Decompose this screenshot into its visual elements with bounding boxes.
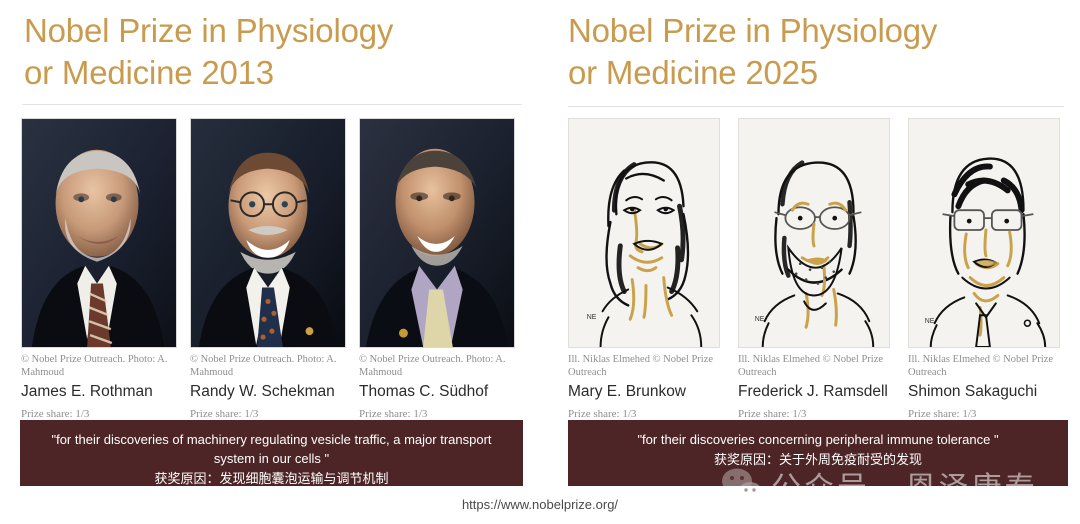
prize-share: Prize share: 1/3: [738, 407, 890, 421]
laureate-name: Randy W. Schekman: [190, 382, 346, 401]
citation-chinese: 获奖原因：关于外周免疫耐受的发现: [582, 450, 1054, 469]
laureate-portrait-photo: [190, 118, 346, 348]
prize-share: Prize share: 1/3: [908, 407, 1060, 421]
laureate-portrait-illustration: NE: [908, 118, 1060, 348]
svg-text:NE: NE: [755, 316, 765, 323]
citation-chinese: 获奖原因：发现细胞囊泡运输与调节机制: [34, 469, 509, 488]
laureate-name: Mary E. Brunkow: [568, 382, 720, 401]
portrait-credit: Ill. Niklas Elmehed © Nobel Prize Outrea…: [568, 354, 720, 379]
laureate-name: Thomas C. Südhof: [359, 382, 515, 401]
laureate-card[interactable]: © Nobel Prize Outreach. Photo: A. Mahmou…: [21, 118, 177, 421]
title-divider-left: [22, 104, 522, 105]
source-url[interactable]: https://www.nobelprize.org/: [0, 497, 1080, 512]
laureate-name: Frederick J. Ramsdell: [738, 382, 890, 401]
laureate-portrait-photo: [21, 118, 177, 348]
portrait-credit: Ill. Niklas Elmehed © Nobel Prize Outrea…: [908, 354, 1060, 379]
portrait-credit: © Nobel Prize Outreach. Photo: A. Mahmou…: [21, 354, 177, 379]
laureate-card[interactable]: © Nobel Prize Outreach. Photo: A. Mahmou…: [359, 118, 515, 421]
portrait-credit: © Nobel Prize Outreach. Photo: A. Mahmou…: [359, 354, 515, 379]
laureate-card[interactable]: NE Ill. Niklas Elmehed © Nobel Prize Out…: [568, 118, 720, 421]
portrait-credit: © Nobel Prize Outreach. Photo: A. Mahmou…: [190, 354, 346, 379]
laureate-card[interactable]: NE Ill. Niklas Elmehed © Nobel Prize Out…: [738, 118, 890, 421]
prize-share: Prize share: 1/3: [568, 407, 720, 421]
citation-box-2013: "for their discoveries of machinery regu…: [20, 420, 523, 486]
laureate-name: Shimon Sakaguchi: [908, 382, 1060, 401]
prize-share: Prize share: 1/3: [21, 407, 177, 421]
slide-root: Nobel Prize in Physiology or Medicine 20…: [0, 0, 1080, 524]
prize-share: Prize share: 1/3: [359, 407, 515, 421]
laureate-portrait-illustration: NE: [568, 118, 720, 348]
laureate-list-2013: © Nobel Prize Outreach. Photo: A. Mahmou…: [21, 118, 515, 421]
laureate-card[interactable]: © Nobel Prize Outreach. Photo: A. Mahmou…: [190, 118, 346, 421]
citation-english: "for their discoveries concerning periph…: [637, 432, 998, 447]
laureate-portrait-photo: [359, 118, 515, 348]
title-divider-right: [568, 106, 1064, 107]
svg-text:NE: NE: [925, 318, 935, 325]
laureate-list-2025: NE Ill. Niklas Elmehed © Nobel Prize Out…: [568, 118, 1060, 421]
laureate-card[interactable]: NE Ill. Niklas Elmehed © Nobel Prize Out…: [908, 118, 1060, 421]
laureate-portrait-illustration: NE: [738, 118, 890, 348]
svg-text:NE: NE: [587, 314, 597, 321]
panel-2013: Nobel Prize in Physiology or Medicine 20…: [0, 0, 540, 524]
citation-english: "for their discoveries of machinery regu…: [51, 432, 491, 466]
portrait-credit: Ill. Niklas Elmehed © Nobel Prize Outrea…: [738, 354, 890, 379]
page-title-2025: Nobel Prize in Physiology or Medicine 20…: [568, 10, 1048, 94]
citation-box-2025: "for their discoveries concerning periph…: [568, 420, 1068, 486]
prize-share: Prize share: 1/3: [190, 407, 346, 421]
laureate-name: James E. Rothman: [21, 382, 177, 401]
page-title-2013: Nobel Prize in Physiology or Medicine 20…: [24, 10, 514, 94]
